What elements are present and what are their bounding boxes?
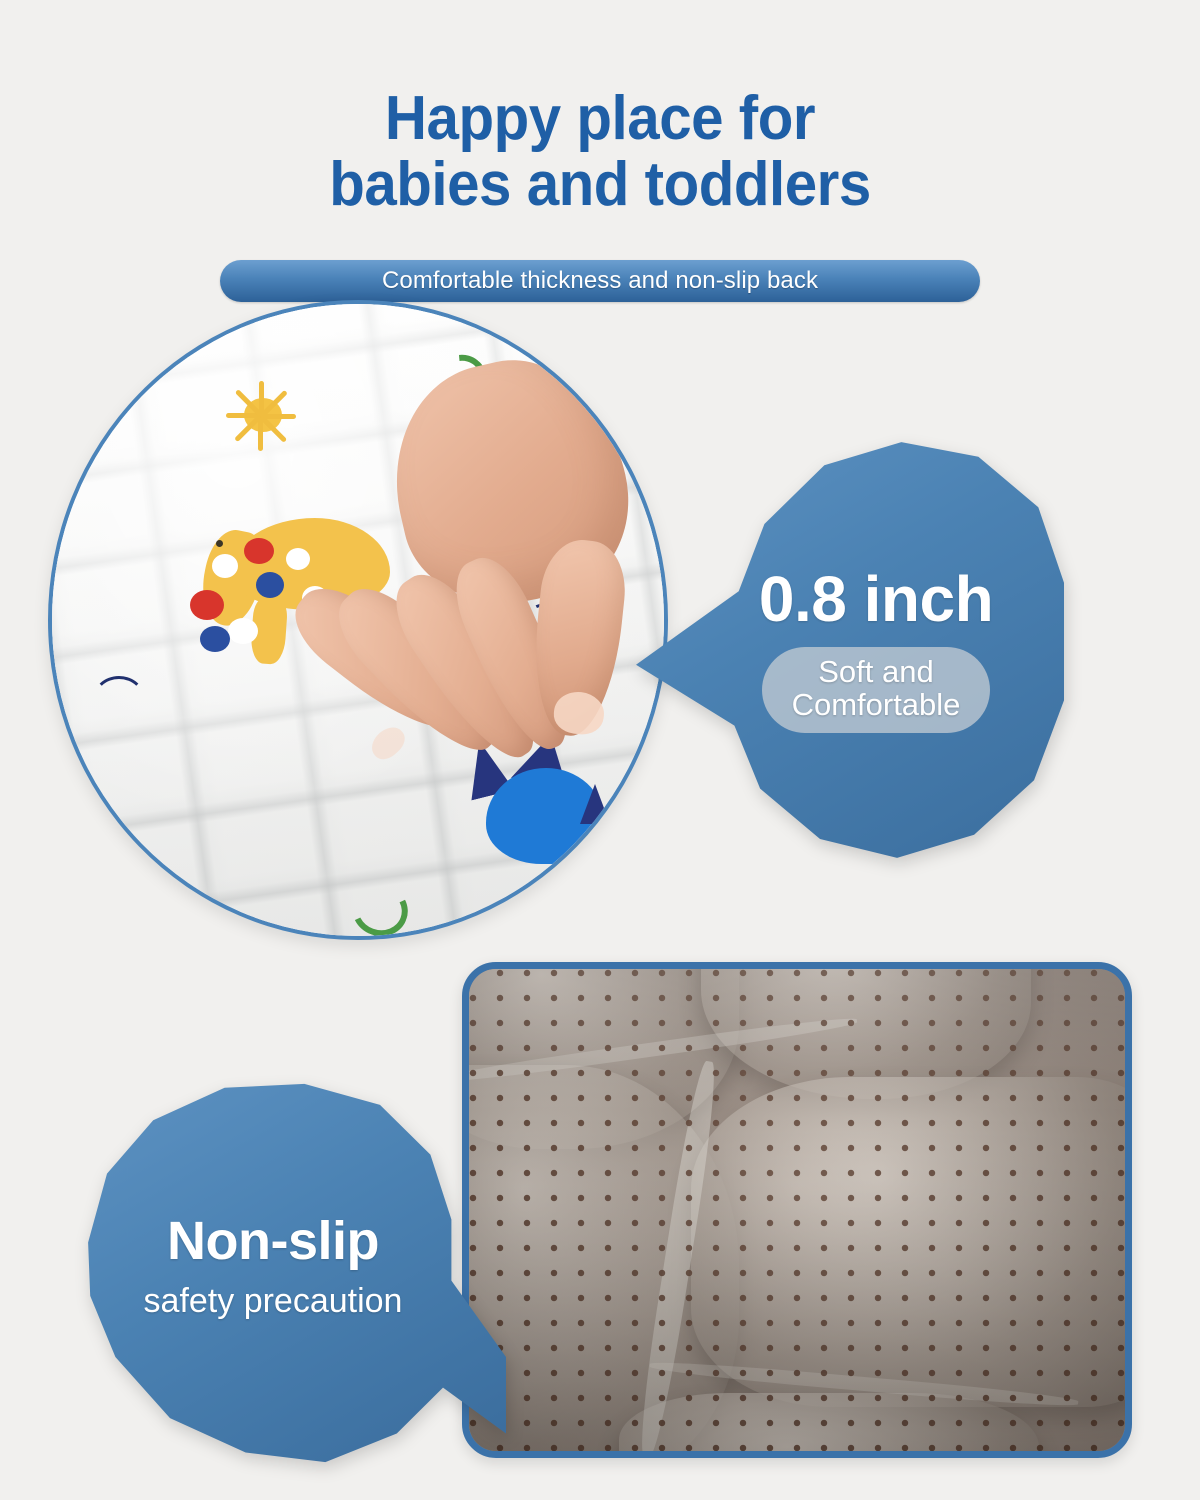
nonslip-subtitle: safety precaution	[144, 1284, 403, 1318]
nonslip-callout-bubble: Non-slip safety precaution	[86, 1082, 506, 1464]
page-title-line-2: babies and toddlers	[36, 152, 1164, 218]
mattress-top-photo	[48, 300, 668, 940]
subtitle-text: Comfortable thickness and non-slip back	[382, 267, 818, 295]
scribble-print-icon	[92, 676, 146, 726]
nonslip-back-photo	[462, 962, 1132, 1458]
page-title-line-1: Happy place for	[36, 86, 1164, 152]
hand-pressing-icon	[340, 362, 668, 832]
photo-vignette	[469, 969, 1125, 1451]
mattress-illustration	[52, 304, 664, 936]
thickness-callout-bubble: 0.8 inch Soft and Comfortable	[636, 440, 1064, 860]
soft-comfortable-line-2: Comfortable	[792, 688, 961, 721]
nonslip-illustration	[469, 969, 1125, 1451]
bubble-content: Non-slip safety precaution	[86, 1082, 506, 1464]
soft-comfortable-badge: Soft and Comfortable	[762, 647, 991, 734]
bubble-content: 0.8 inch Soft and Comfortable	[636, 440, 1064, 860]
subtitle-banner: Comfortable thickness and non-slip back	[220, 260, 980, 302]
page-title: Happy place for babies and toddlers	[36, 86, 1164, 219]
soft-comfortable-line-1: Soft and	[792, 655, 961, 688]
sun-print-icon	[202, 364, 322, 474]
header: Happy place for babies and toddlers Comf…	[0, 0, 1200, 302]
nonslip-title: Non-slip	[167, 1214, 379, 1268]
thickness-value: 0.8 inch	[759, 567, 993, 631]
